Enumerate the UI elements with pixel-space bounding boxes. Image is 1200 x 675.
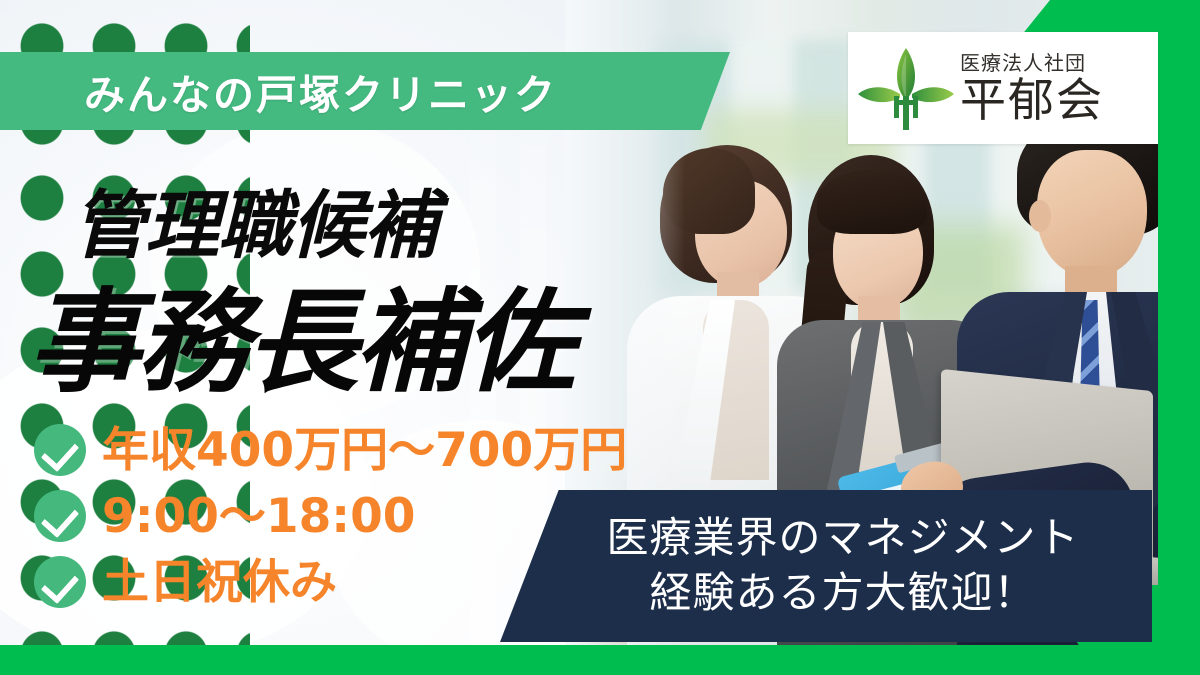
check-circle-icon	[34, 490, 86, 542]
experience-note: 医療業界のマネジメント 経験ある方大歓迎！	[500, 490, 1152, 642]
logo-text-block: 医療法人社団 平郁会	[960, 52, 1104, 124]
clinic-name-text: みんなの戸塚クリニック	[84, 61, 557, 121]
condition-salary: 年収400万円～700万円	[102, 427, 627, 474]
person-manager-ear	[1029, 200, 1051, 232]
person-manager-face	[1037, 150, 1147, 278]
corporation-name: 平郁会	[960, 76, 1104, 124]
frame-right	[1158, 0, 1200, 675]
person-staff-bangs	[817, 170, 927, 234]
check-circle-icon	[34, 556, 86, 608]
condition-hours: 9:00～18:00	[102, 493, 416, 540]
condition-row: 年収400万円～700万円	[34, 424, 627, 476]
note-line-2: 経験ある方大歓迎！	[649, 566, 1036, 621]
corporation-logo: 医療法人社団 平郁会	[848, 32, 1158, 144]
frame-bottom	[0, 645, 1200, 675]
leaf-emblem-icon	[854, 40, 958, 136]
check-circle-icon	[34, 424, 86, 476]
corporation-type: 医療法人社団	[960, 52, 1104, 74]
clinic-name-banner: みんなの戸塚クリニック	[0, 52, 730, 130]
recruitment-banner: みんなの戸塚クリニック	[0, 0, 1200, 675]
note-line-1: 医療業界のマネジメント	[606, 511, 1079, 566]
headline-main: 事務長補佐	[28, 252, 573, 414]
condition-holidays: 土日祝休み	[102, 559, 337, 606]
condition-row: 9:00～18:00	[34, 490, 627, 542]
